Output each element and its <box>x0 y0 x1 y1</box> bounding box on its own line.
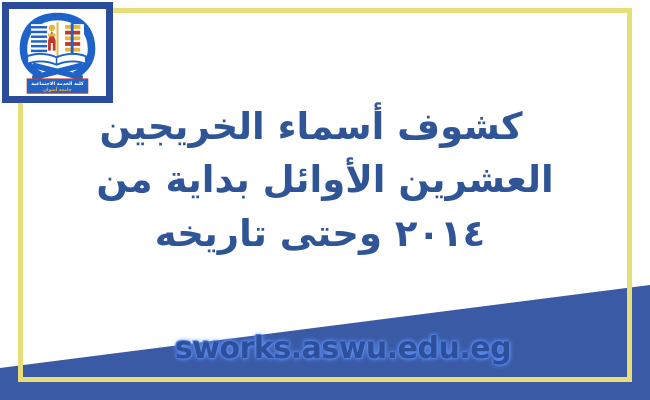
logo-hieroglyph-column <box>65 23 80 53</box>
logo-ribbon <box>35 66 80 77</box>
page-title-line-3: ٢٠١٤ وحتى تاريخه <box>36 207 614 260</box>
logo-caption-plaque: كلية الخدمة الاجتماعية جامعة أسوان <box>27 79 88 93</box>
university-logo-plate: كلية الخدمة الاجتماعية جامعة أسوان <box>2 2 113 103</box>
page-title: كشوف أسماء الخريجين العشرين الأوائل بداي… <box>36 100 614 260</box>
site-url-watermark: sworks.aswu.edu.eg <box>0 331 650 366</box>
page-title-line-2: العشرين الأوائل بداية من <box>36 153 614 206</box>
logo-caption-faculty: كلية الخدمة الاجتماعية <box>31 81 84 87</box>
university-logo-icon: كلية الخدمة الاجتماعية جامعة أسوان <box>9 9 106 96</box>
page-title-line-1: كشوف أسماء الخريجين <box>36 100 614 153</box>
banner-root: كشوف أسماء الخريجين العشرين الأوائل بداي… <box>0 0 650 400</box>
